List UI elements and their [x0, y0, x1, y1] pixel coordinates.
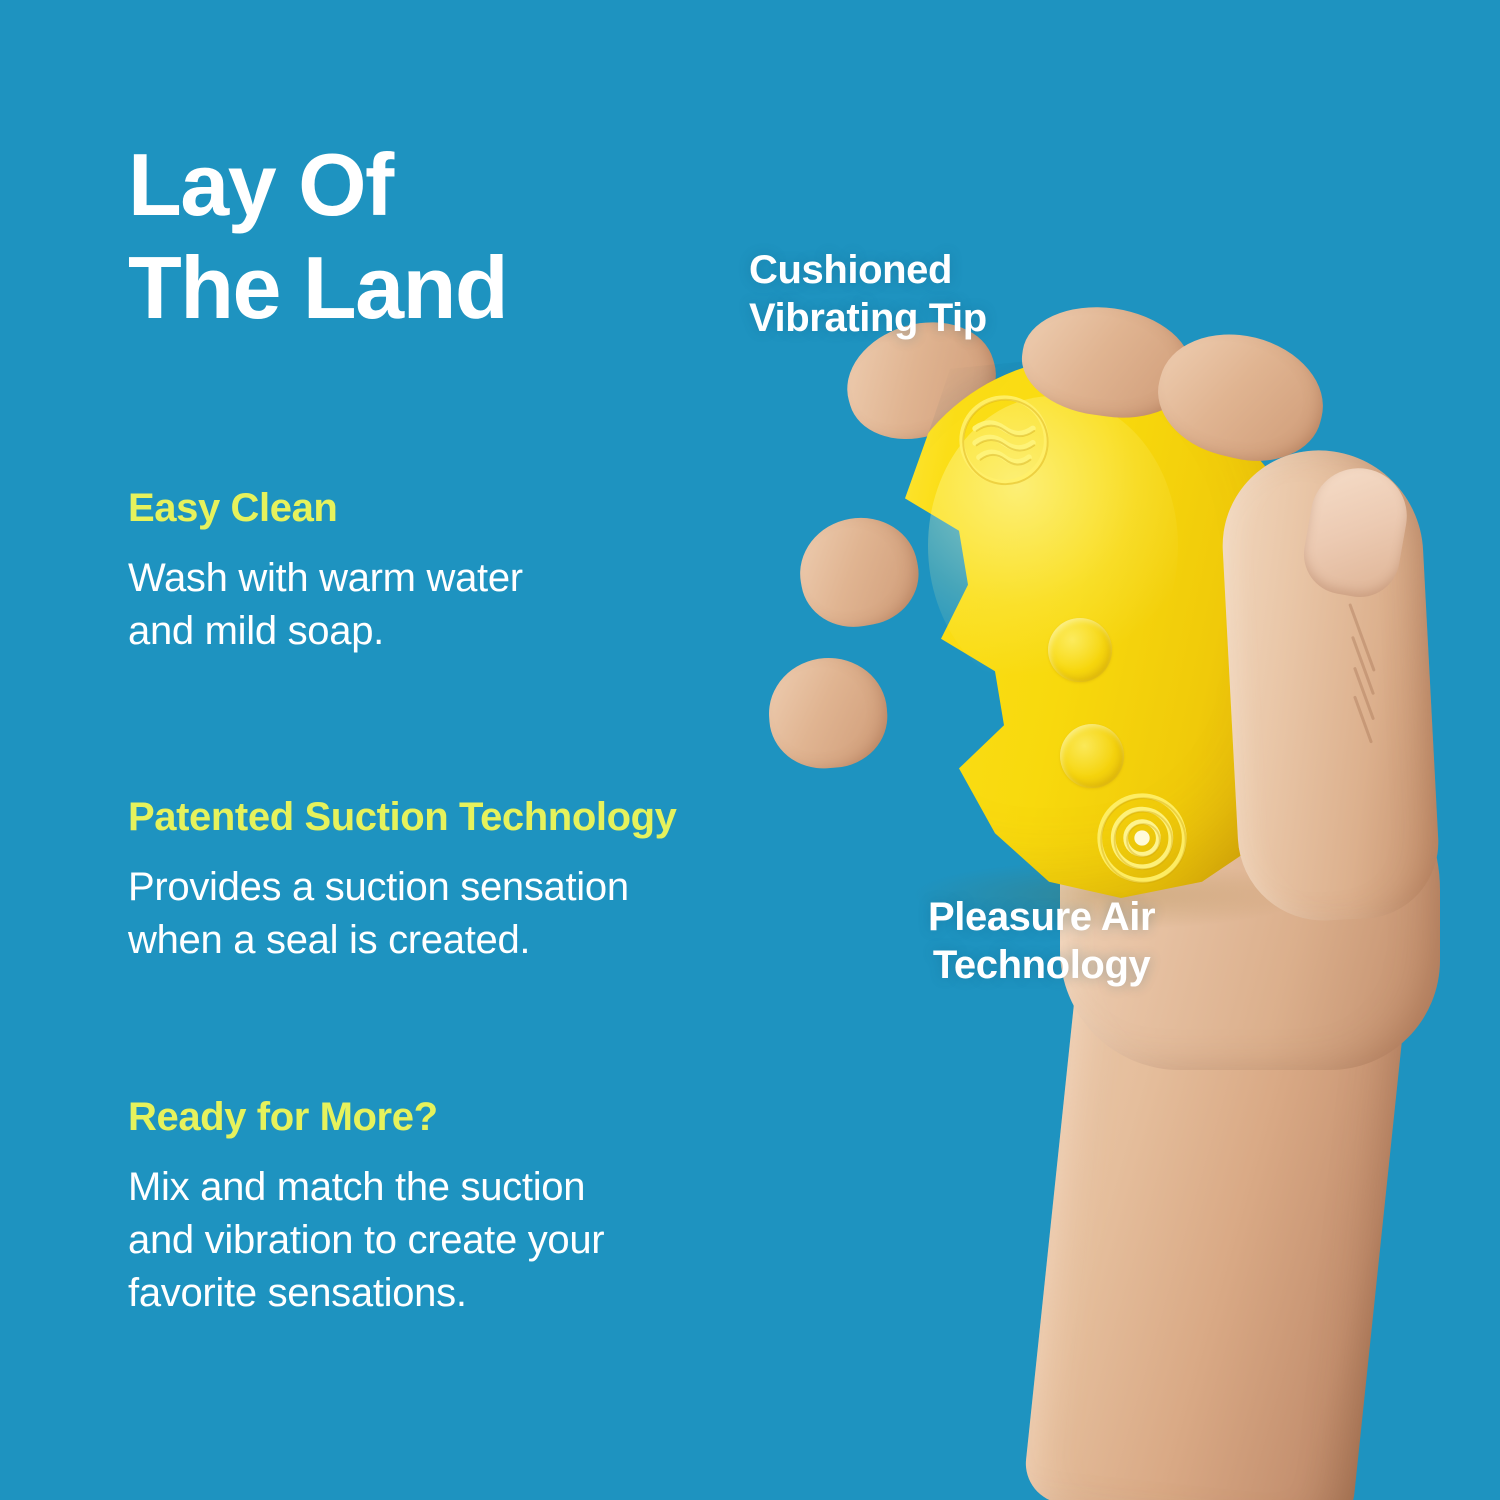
page-title: Lay Of The Land	[128, 134, 768, 340]
bullseye-icon	[1094, 790, 1190, 886]
callout-pleasure-air-technology: Pleasure Air Technology	[928, 893, 1155, 989]
infographic-canvas: Lay Of The Land Easy Clean Wash with war…	[0, 0, 1500, 1500]
increase-intensity-button[interactable]	[1048, 618, 1112, 682]
fingertip	[792, 509, 927, 636]
callout-cushioned-vibrating-tip: Cushioned Vibrating Tip	[749, 246, 987, 342]
wave-icon	[956, 392, 1052, 488]
decrease-intensity-button[interactable]	[1060, 724, 1124, 788]
fingertip	[765, 654, 890, 772]
